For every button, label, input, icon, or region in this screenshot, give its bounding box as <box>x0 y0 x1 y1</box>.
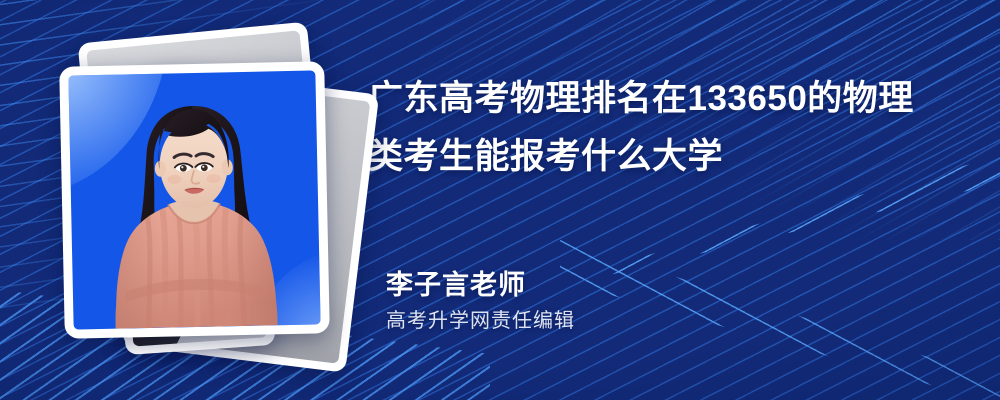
page-title-line-1: 广东高考物理排名在133650的物理 <box>368 70 958 128</box>
author-name: 李子言老师 <box>386 268 575 302</box>
author-photo-card <box>59 61 330 338</box>
portrait-illustration <box>68 70 320 329</box>
author-photo <box>68 70 320 329</box>
photo-card-stack <box>52 28 352 368</box>
byline: 李子言老师 高考升学网责任编辑 <box>386 268 575 334</box>
banner-text-column: 广东高考物理排名在133650的物理 类考生能报考什么大学 李子言老师 高考升学… <box>368 0 968 400</box>
page-title: 广东高考物理排名在133650的物理 类考生能报考什么大学 <box>368 70 958 186</box>
article-cover-banner: 广东高考物理排名在133650的物理 类考生能报考什么大学 李子言老师 高考升学… <box>0 0 1000 400</box>
page-title-line-2: 类考生能报考什么大学 <box>368 128 958 186</box>
author-role: 高考升学网责任编辑 <box>386 308 575 334</box>
